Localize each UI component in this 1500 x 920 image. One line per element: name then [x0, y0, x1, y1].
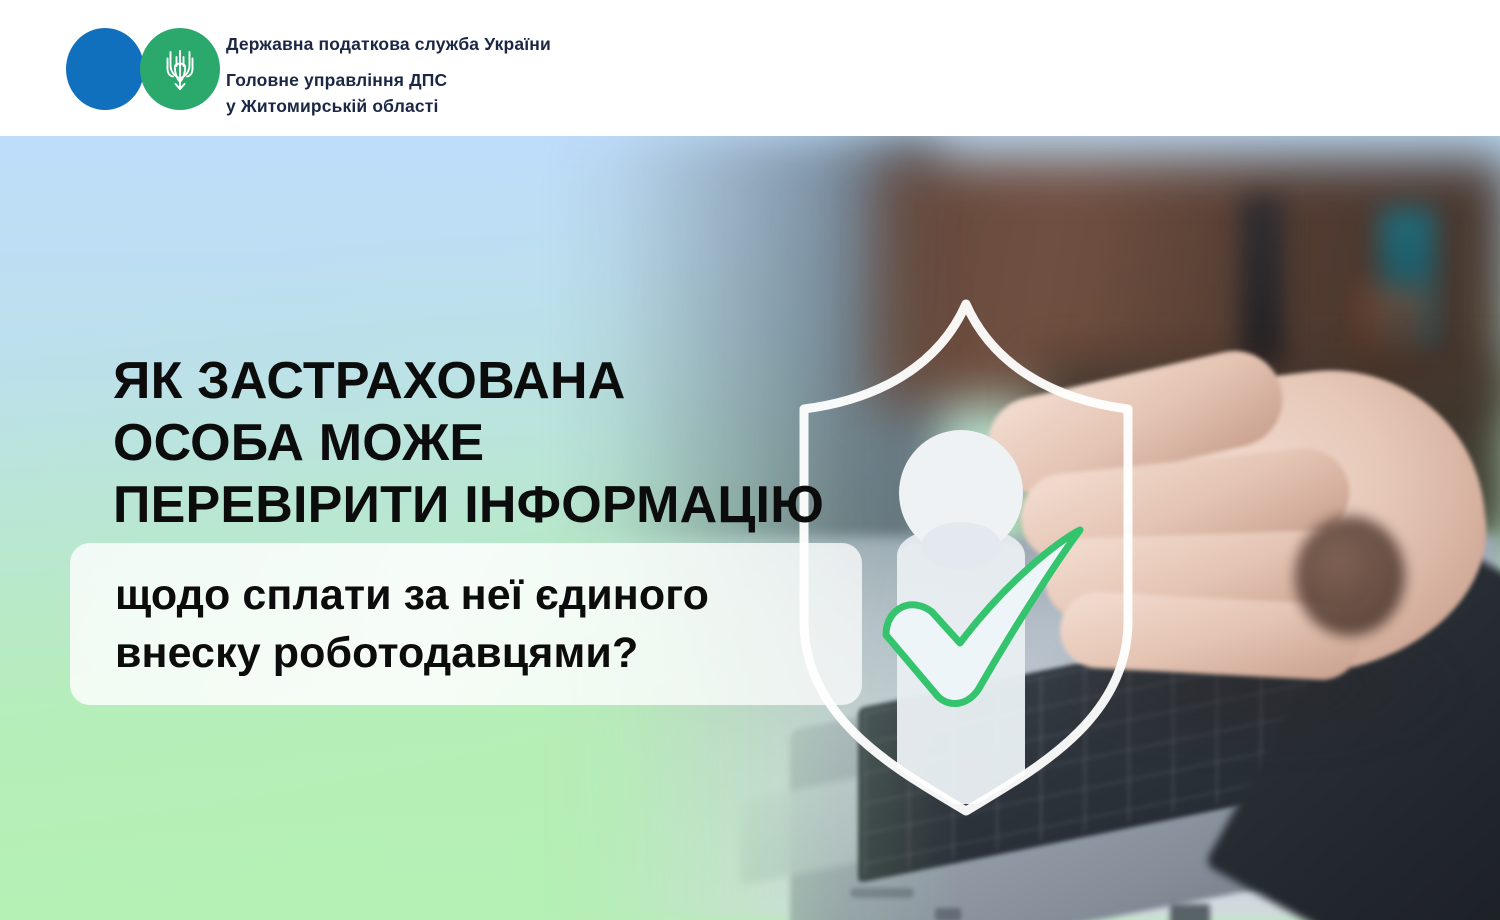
org-name-regional-2: у Житомирській області: [226, 94, 786, 120]
logo-circle-blue-icon: [66, 28, 144, 110]
subtitle-line-1: щодо сплати за неї єдиного: [115, 566, 862, 624]
headline-line-2: ОСОБА МОЖЕ: [113, 412, 824, 474]
ukraine-trident-emblem-icon: [162, 45, 198, 93]
header-bar: Державна податкова служба України Головн…: [0, 0, 1500, 136]
logo: [66, 28, 218, 110]
laptop-port-side: [1170, 904, 1210, 920]
org-name-regional-1: Головне управління ДПС: [226, 68, 786, 94]
header-organization-text: Державна податкова служба України Головн…: [226, 32, 786, 119]
poster-root: ЯК ЗАСТРАХОВАНА ОСОБА МОЖЕ ПЕРЕВІРИТИ ІН…: [0, 0, 1500, 920]
subtitle-line-2: внеску роботодавцями?: [115, 624, 862, 682]
laptop-port-slot: [850, 888, 914, 898]
org-name-national: Державна податкова служба України: [226, 32, 786, 57]
laptop-port-usb: [935, 908, 961, 920]
poster-canvas: ЯК ЗАСТРАХОВАНА ОСОБА МОЖЕ ПЕРЕВІРИТИ ІН…: [0, 136, 1500, 920]
logo-circle-green-icon: [140, 28, 220, 110]
headline-line-3: ПЕРЕВІРИТИ ІНФОРМАЦІЮ: [113, 474, 824, 536]
headline-line-1: ЯК ЗАСТРАХОВАНА: [113, 350, 824, 412]
hand-thumb-shadow: [1295, 516, 1405, 636]
subtitle-card: щодо сплати за неї єдиного внеску робото…: [70, 543, 862, 705]
page-title: ЯК ЗАСТРАХОВАНА ОСОБА МОЖЕ ПЕРЕВІРИТИ ІН…: [113, 350, 824, 536]
